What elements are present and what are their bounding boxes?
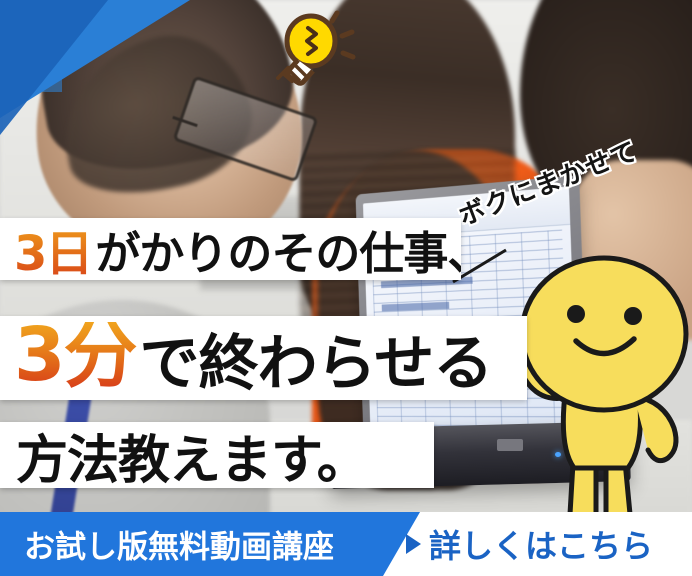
headline-1-number: 3日 bbox=[14, 218, 95, 280]
cta-link-label: 詳しくはこちら bbox=[429, 521, 653, 567]
promo-banner: ボクにまかせて 3日 がかりのその仕事、 bbox=[0, 0, 692, 576]
cta-badge-label: お試し版無料動画講座 bbox=[24, 522, 334, 567]
lightbulb-icon bbox=[258, 8, 358, 86]
triangle-right-icon bbox=[406, 534, 421, 554]
mascot-eye-right bbox=[624, 307, 642, 325]
cta-link[interactable]: 詳しくはこちら bbox=[406, 521, 653, 567]
headline-band-3: 方法教えます。 bbox=[0, 422, 434, 488]
headline-band-1: 3日 がかりのその仕事、 bbox=[0, 218, 461, 280]
headline-band-2: 3分 で終わらせる bbox=[0, 316, 527, 400]
headline-3-text: 方法教えます。 bbox=[16, 422, 368, 488]
headline-2-text: で終わらせる bbox=[140, 316, 493, 400]
corner-triangle-dark bbox=[0, 0, 108, 135]
mascot-eye-left bbox=[567, 305, 585, 323]
headline-2-number: 3分 bbox=[14, 322, 140, 389]
cta-bar[interactable]: お試し版無料動画講座 詳しくはこちら bbox=[0, 512, 692, 576]
headline-1-text: がかりのその仕事、 bbox=[95, 218, 461, 280]
